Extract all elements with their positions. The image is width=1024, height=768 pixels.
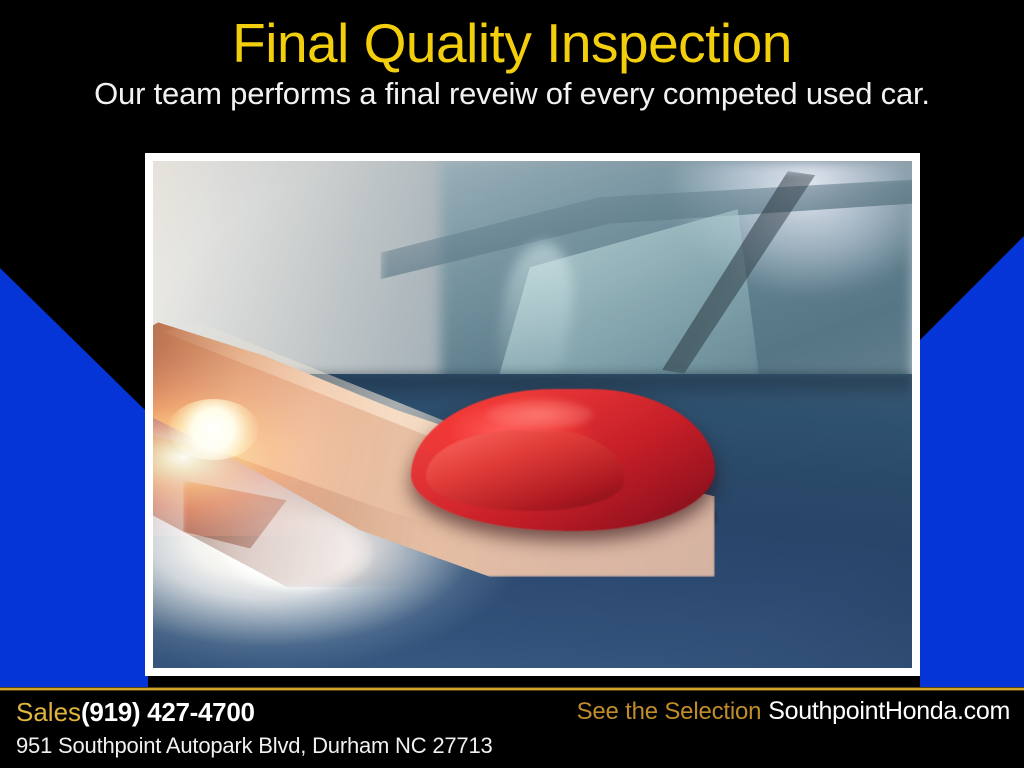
footer-phone-line: Sales(919) 427-4700 [16, 697, 493, 727]
header: Final Quality Inspection Our team perfor… [0, 0, 1024, 111]
see-the-selection-label: See the Selection [577, 698, 762, 725]
sales-label: Sales [16, 697, 81, 727]
dealer-address: 951 Southpoint Autopark Blvd, Durham NC … [16, 727, 493, 759]
dealer-website-link[interactable]: SouthpointHonda.com [761, 697, 1010, 725]
sales-phone-number[interactable]: (919) 427-4700 [81, 697, 255, 727]
hero-photo [153, 161, 912, 668]
photo-red-cloth-highlight [487, 399, 593, 429]
page-subtitle: Our team performs a final reveiw of ever… [0, 72, 1024, 111]
footer: Sales(919) 427-4700 951 Southpoint Autop… [0, 691, 1024, 768]
footer-cta-block: See the SelectionSouthpointHonda.com [577, 697, 1010, 726]
photo-red-cloth-fold [426, 430, 623, 511]
photo-sun-flare-core [168, 399, 259, 460]
page-title: Final Quality Inspection [0, 0, 1024, 72]
footer-contact-block: Sales(919) 427-4700 951 Southpoint Autop… [16, 697, 493, 759]
decorative-wedge-right [920, 236, 1024, 688]
photo-frame [145, 153, 920, 676]
decorative-wedge-left [0, 268, 148, 688]
slide-canvas: Final Quality Inspection Our team perfor… [0, 0, 1024, 768]
